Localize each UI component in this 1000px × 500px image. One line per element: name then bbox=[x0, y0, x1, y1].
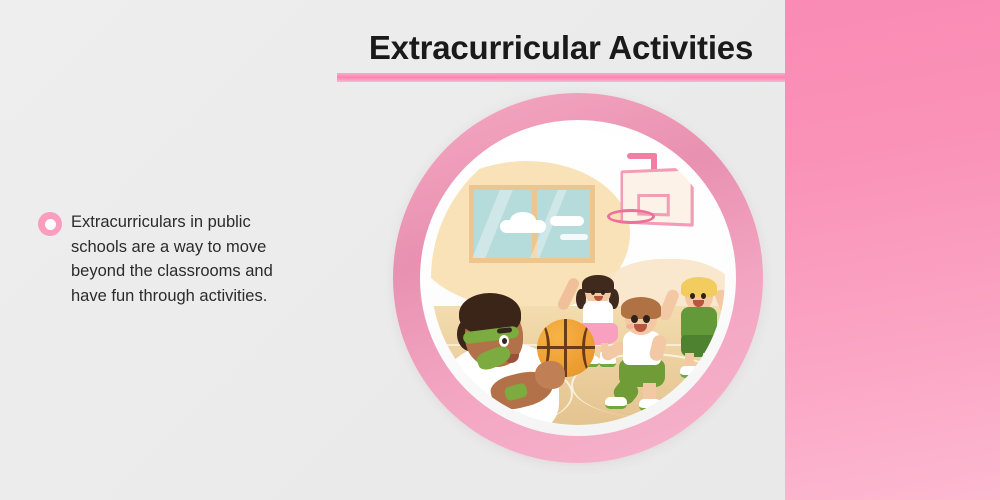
bullet-item-text: Extracurriculars in public schools are a… bbox=[71, 210, 293, 308]
ball-seam-curve-right bbox=[582, 319, 595, 377]
girl-eye-left bbox=[591, 290, 595, 295]
running-boy-shoe-left bbox=[605, 397, 627, 409]
running-boy-eye-right bbox=[643, 315, 650, 323]
boy-pupil bbox=[502, 338, 507, 344]
basketball-rim-icon bbox=[607, 209, 655, 224]
running-boy-cheek bbox=[626, 324, 634, 329]
blonde-kid-shoe-right bbox=[699, 366, 718, 378]
blonde-kid-eye-right bbox=[701, 293, 706, 299]
boy-hand bbox=[535, 361, 565, 389]
gym-window bbox=[469, 185, 595, 263]
basketball-scene-illustration bbox=[431, 131, 725, 425]
running-boy-eye-left bbox=[631, 315, 638, 323]
cloud-icon bbox=[510, 212, 536, 229]
side-accent-panel bbox=[785, 0, 1000, 500]
running-boy-hair bbox=[621, 297, 661, 319]
character-boy-with-basketball bbox=[439, 279, 589, 425]
blonde-kid-hair bbox=[681, 277, 717, 297]
cloud-icon bbox=[560, 234, 588, 240]
title-underline-rule bbox=[337, 73, 785, 82]
ring-bullet-inner bbox=[45, 219, 56, 230]
girl-eye-right bbox=[601, 290, 605, 295]
bullet-list-item: Extracurriculars in public schools are a… bbox=[38, 210, 300, 308]
page-title: Extracurricular Activities bbox=[337, 26, 785, 70]
illustration-inner-ring bbox=[420, 120, 736, 436]
blonde-kid-eye-left bbox=[690, 293, 695, 299]
ring-bullet-icon bbox=[38, 212, 62, 236]
illustration-circle-frame bbox=[393, 93, 763, 463]
running-boy-shoe-right bbox=[639, 399, 661, 411]
blonde-kid-shoe-left bbox=[680, 366, 699, 378]
character-running-boy bbox=[607, 293, 681, 409]
slide-canvas: Extracurricular Activities Extracurricul… bbox=[0, 0, 1000, 500]
